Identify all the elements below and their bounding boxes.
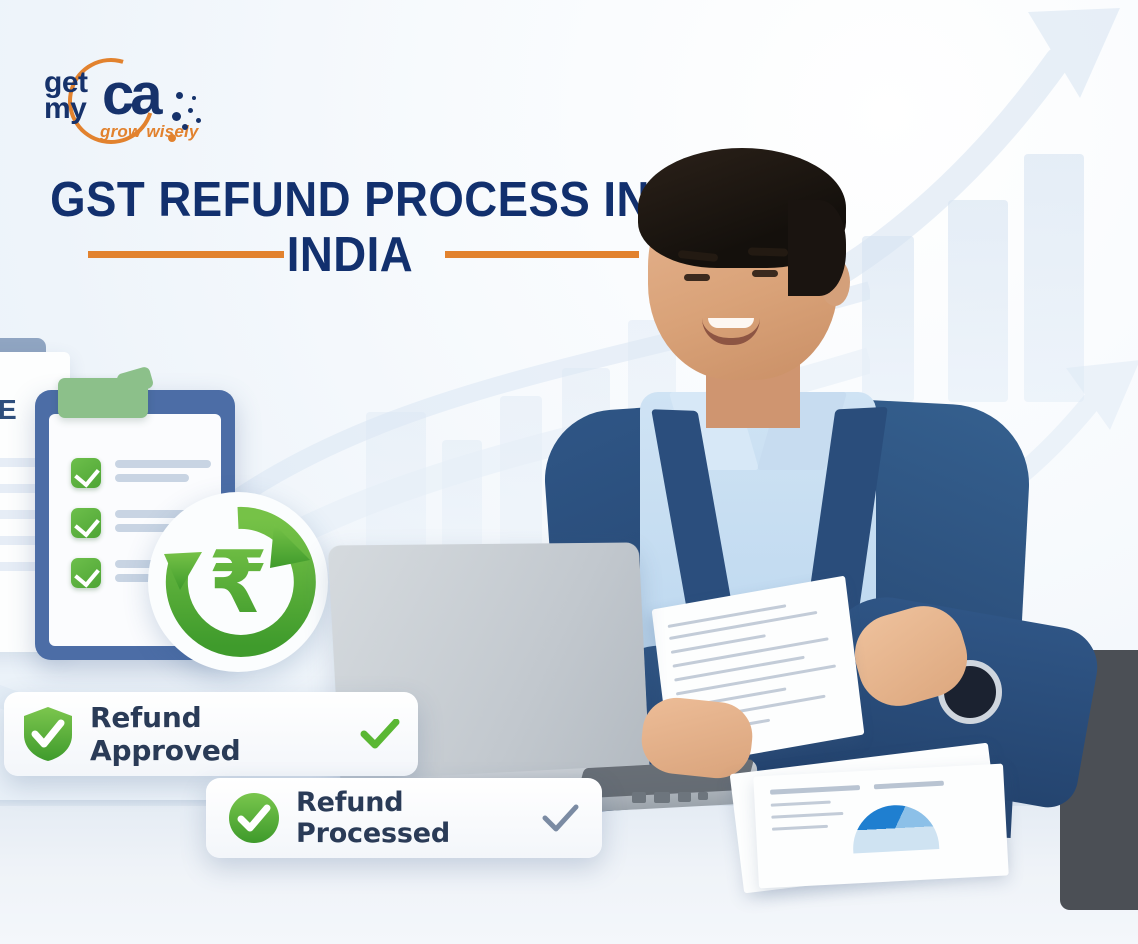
refund-cycle-badge: ₹ <box>148 492 328 672</box>
laptop-port <box>678 792 691 802</box>
document-label: E <box>0 394 17 426</box>
report-text-line <box>772 825 828 831</box>
logo-dot-3 <box>172 112 181 121</box>
shield-check-icon <box>22 705 74 763</box>
report-text-line <box>874 781 944 790</box>
laptop-port <box>654 792 670 803</box>
poster-canvas: get my ca grow wisely GST REFUND PROCESS… <box>0 0 1138 944</box>
report-text-line <box>771 801 831 807</box>
report-text-line <box>771 812 843 819</box>
laptop-port <box>632 792 646 803</box>
logo-word-ca: ca <box>102 66 159 124</box>
document-text-line <box>669 611 817 640</box>
logo-dot-1 <box>176 92 183 99</box>
clipboard-clamp-icon <box>58 378 148 418</box>
check-icon <box>540 803 580 833</box>
laptop-port <box>698 792 708 800</box>
businessman-photo <box>520 140 1138 944</box>
logo-dot-6 <box>168 134 176 142</box>
logo-dot-4 <box>192 96 196 100</box>
check-icon <box>360 719 400 749</box>
logo-word-my: my <box>44 94 86 124</box>
checkbox-checked-icon <box>71 558 101 588</box>
checklist-line <box>115 474 189 482</box>
logo-dot-2 <box>188 108 193 113</box>
svg-text:₹: ₹ <box>208 533 268 633</box>
document-text-line <box>672 637 828 667</box>
document-text-line <box>674 656 805 682</box>
status-card-refund-approved[interactable]: Refund Approved <box>4 692 418 776</box>
background-bar-1 <box>366 412 426 564</box>
eyebrow-right <box>748 247 788 256</box>
desk-report-front <box>753 764 1009 889</box>
status-card-label: Refund Approved <box>90 701 360 767</box>
checkbox-checked-icon <box>71 508 101 538</box>
document-text-line <box>676 664 836 695</box>
checklist-line <box>115 460 211 468</box>
logo-dot-5 <box>182 124 188 130</box>
refund-cycle-icon: ₹ <box>158 502 318 662</box>
brand-logo[interactable]: get my ca grow wisely <box>16 52 206 144</box>
document-text-line <box>668 604 787 628</box>
checkbox-checked-icon <box>71 458 101 488</box>
hair <box>638 148 846 268</box>
title-rule-left <box>88 251 284 258</box>
logo-dot-7 <box>196 118 201 123</box>
pie-chart-icon <box>851 803 939 853</box>
status-card-label: Refund Processed <box>296 787 540 849</box>
eye-left <box>684 274 710 281</box>
eye-right <box>752 270 778 277</box>
status-card-refund-processed[interactable]: Refund Processed <box>206 778 602 858</box>
circle-check-icon <box>228 792 280 844</box>
report-text-line <box>770 785 860 795</box>
